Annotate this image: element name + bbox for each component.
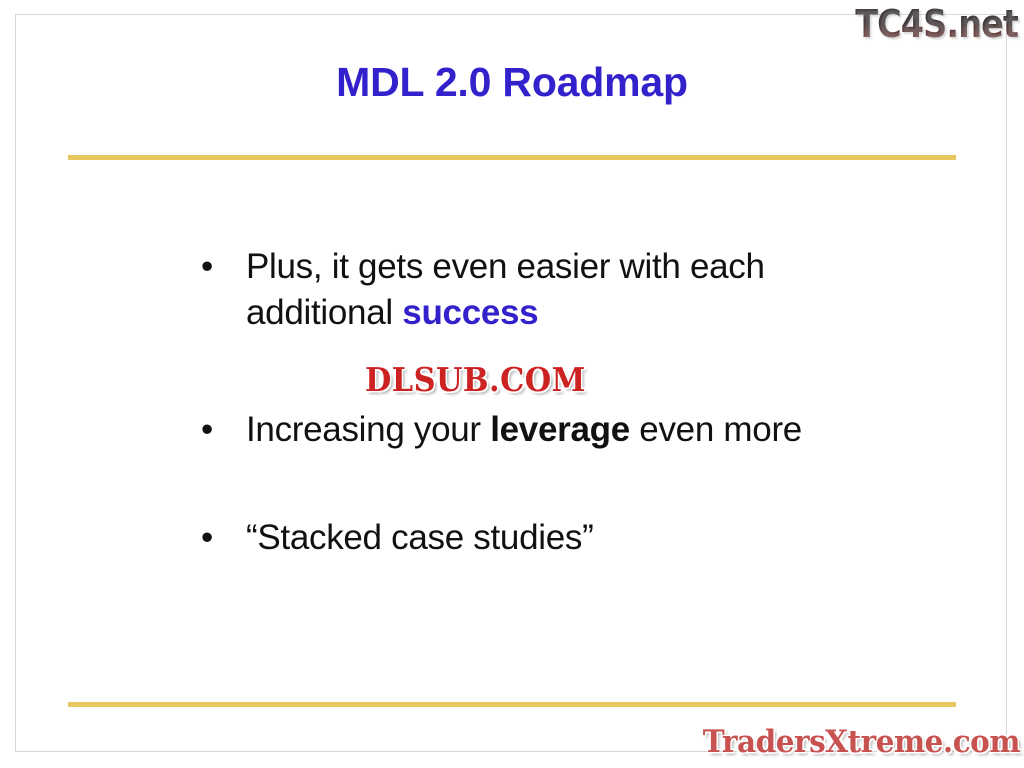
bullet-1-accent-word: success [402,293,538,332]
list-item: •Plus, it gets even easier with each add… [196,244,896,335]
list-item: •Increasing your leverage even more [196,407,896,453]
bullet-marker-icon: • [201,515,215,561]
bullet-3-text: “Stacked case studies” [246,518,593,557]
page-title: MDL 2.0 Roadmap [0,62,1024,103]
bullet-marker-icon: • [201,244,215,290]
bullet-2-bold-word: leverage [490,410,630,449]
footer-divider-bottom [68,702,956,707]
title-divider-top [68,155,956,160]
bullet-2-text-tail: even more [630,410,802,449]
bullet-marker-icon: • [201,407,215,453]
bullet-2-text-lead: Increasing your [246,410,490,449]
watermark-dlsub: DLSUB.COM [365,360,586,399]
list-item: •“Stacked case studies” [196,515,896,561]
bullet-list: •Plus, it gets even easier with each add… [196,244,896,560]
watermark-tc4s: TC4S.net [855,2,1018,46]
watermark-tradersxtreme: TradersXtreme.com [703,724,1020,760]
